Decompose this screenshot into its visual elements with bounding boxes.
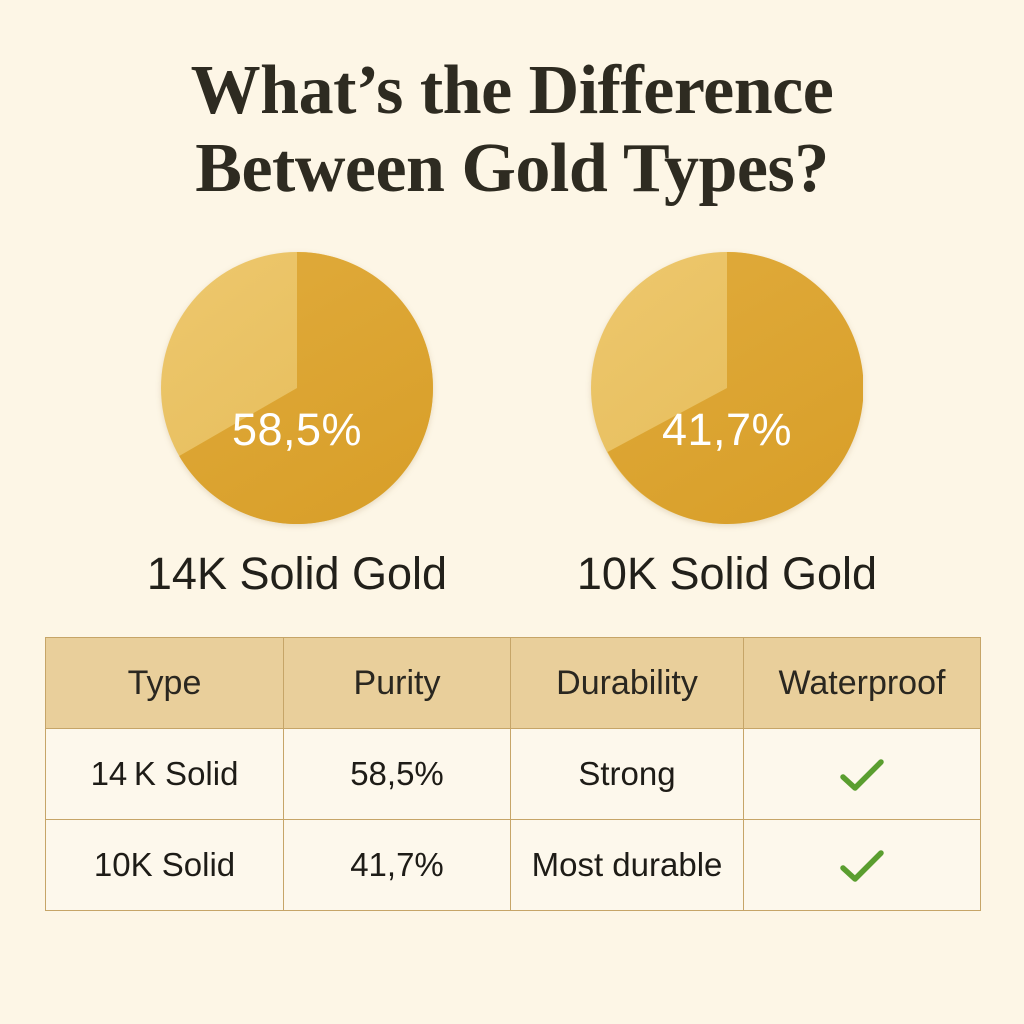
cell-durability: Most durable <box>511 820 744 911</box>
cell-durability: Strong <box>511 729 744 820</box>
page-title: What’s the Difference Between Gold Types… <box>0 52 1024 208</box>
gold-comparison-table: Type Purity Durability Waterproof 14 K S… <box>45 637 981 911</box>
column-header-durability: Durability <box>511 638 744 729</box>
column-header-waterproof: Waterproof <box>744 638 981 729</box>
check-icon <box>839 759 885 793</box>
table-row: 14 K Solid 58,5% Strong <box>46 729 981 820</box>
column-header-type: Type <box>46 638 284 729</box>
cell-type: 10K Solid <box>46 820 284 911</box>
cell-waterproof <box>744 729 981 820</box>
gold-types-infographic: What’s the Difference Between Gold Types… <box>0 0 1024 1024</box>
pie-caption-14k: 14K Solid Gold <box>87 545 507 603</box>
cell-type: 14 K Solid <box>46 729 284 820</box>
table-body: 14 K Solid 58,5% Strong 10K Solid 41,7% … <box>46 729 981 911</box>
cell-purity: 58,5% <box>284 729 511 820</box>
table-header: Type Purity Durability Waterproof <box>46 638 981 729</box>
pie-chart-14k: 58,5% <box>161 252 433 524</box>
pie-chart-14k-svg <box>161 252 433 524</box>
title-line-2: Between Gold Types? <box>0 130 1024 208</box>
pie-caption-10k: 10K Solid Gold <box>517 545 937 603</box>
check-icon <box>839 850 885 884</box>
pie-chart-10k: 41,7% <box>591 252 863 524</box>
pie-chart-10k-svg <box>591 252 863 524</box>
pie-caption-group: 14K Solid Gold 10K Solid Gold <box>0 545 1024 607</box>
table-row: 10K Solid 41,7% Most durable <box>46 820 981 911</box>
column-header-purity: Purity <box>284 638 511 729</box>
title-line-1: What’s the Difference <box>0 52 1024 130</box>
cell-purity: 41,7% <box>284 820 511 911</box>
cell-waterproof <box>744 820 981 911</box>
table-header-row: Type Purity Durability Waterproof <box>46 638 981 729</box>
pie-chart-group: 58,5% 41,7% <box>0 252 1024 542</box>
